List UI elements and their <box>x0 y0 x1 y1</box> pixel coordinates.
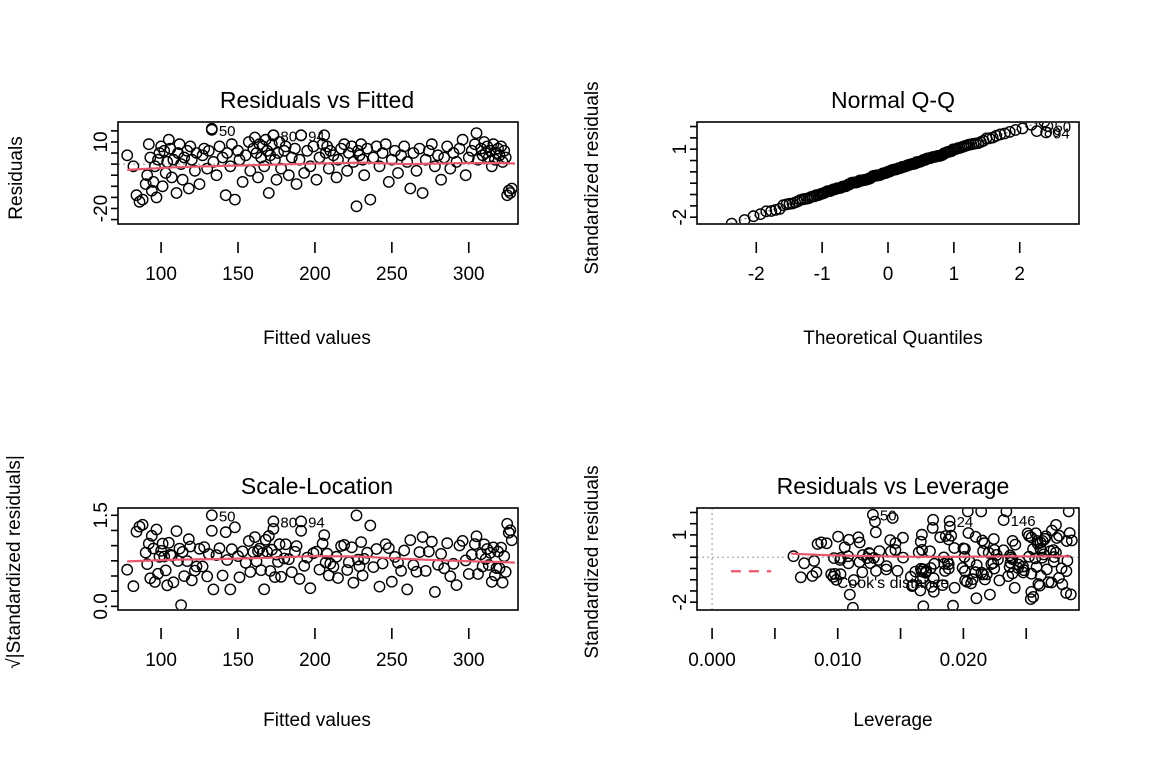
outlier-label: 94 <box>1053 125 1070 142</box>
outlier-label: 94 <box>308 128 325 145</box>
outlier-label: 50 <box>219 508 236 525</box>
x-tick-label: 0 <box>883 264 894 285</box>
y-tick-label: -2 <box>670 594 691 611</box>
outlier-label: 80 <box>280 128 297 145</box>
x-tick-label: 250 <box>376 650 408 671</box>
y-tick-label: -20 <box>91 195 112 222</box>
y-axis-label-residuals: Residuals <box>6 136 27 219</box>
panel-title-normal-qq: Normal Q-Q <box>831 87 955 113</box>
x-tick-label: 250 <box>376 264 408 285</box>
x-tick-label: 100 <box>145 650 177 671</box>
x-tick-label: 150 <box>222 650 254 671</box>
x-tick-label: 0.020 <box>940 650 988 671</box>
outlier-label: 80 <box>280 514 297 531</box>
y-tick-label: 1 <box>670 144 691 155</box>
x-axis-label-leverage: Leverage <box>853 710 932 731</box>
y-tick-label: 10 <box>91 131 112 152</box>
plot-canvas: Residuals vs Fitted Fitted values Residu… <box>0 0 1152 768</box>
x-tick-label: 200 <box>299 264 331 285</box>
x-tick-label: 100 <box>145 264 177 285</box>
x-tick-label: 300 <box>453 650 485 671</box>
x-axis-label-fitted-values-2: Fitted values <box>263 710 371 731</box>
outlier-label: 146 <box>1011 513 1036 530</box>
x-tick-label: 1 <box>949 264 960 285</box>
y-tick-label: 1 <box>670 530 691 541</box>
y-axis-label-standardized-residuals-2: Standardized residuals <box>582 465 603 658</box>
x-tick-label: 200 <box>299 650 331 671</box>
x-tick-label: 300 <box>453 264 485 285</box>
x-tick-label: -2 <box>748 264 765 285</box>
y-tick-label: 0.0 <box>91 593 112 619</box>
x-tick-label: -1 <box>814 264 831 285</box>
panel-title-scale-location: Scale-Location <box>241 473 393 499</box>
panel-title-residuals-vs-fitted: Residuals vs Fitted <box>220 87 414 113</box>
cooks-distance-legend: Cook's distance <box>837 575 950 592</box>
y-axis-label-standardized-residuals: Standardized residuals <box>582 81 603 274</box>
outlier-label: 24 <box>957 514 974 531</box>
y-tick-label: 1.5 <box>91 502 112 528</box>
panel-title-residuals-vs-leverage: Residuals vs Leverage <box>777 473 1010 499</box>
x-axis-label-theoretical-quantiles: Theoretical Quantiles <box>803 328 983 349</box>
y-axis-label-sqrt-standardized-residuals: √|Standardized residuals| <box>4 455 25 669</box>
outlier-label: 94 <box>308 514 325 531</box>
outlier-label: 50 <box>219 123 236 140</box>
x-tick-label: 0.000 <box>688 650 736 671</box>
x-axis-label-fitted-values: Fitted values <box>263 328 371 349</box>
x-tick-label: 2 <box>1014 264 1025 285</box>
r-diagnostic-plots-figure: Residuals vs Fitted Fitted values Residu… <box>0 0 1152 768</box>
y-tick-label: -2 <box>670 209 691 226</box>
x-tick-label: 150 <box>222 264 254 285</box>
x-tick-label: 0.010 <box>814 650 862 671</box>
outlier-label: 50 <box>880 508 897 525</box>
